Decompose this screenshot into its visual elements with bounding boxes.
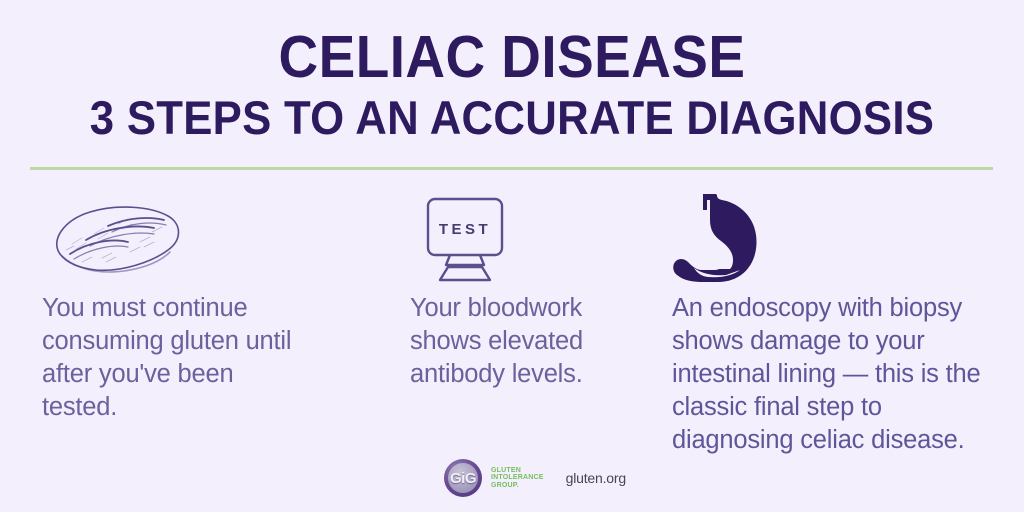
steps-container: You must continue consuming gluten until… <box>0 190 1024 450</box>
step-3-text: An endoscopy with biopsy shows damage to… <box>672 292 1002 457</box>
org-line-3: GROUP. <box>491 482 544 490</box>
step-1-icon-wrap <box>42 190 292 282</box>
gig-logo-text: GiG <box>450 470 476 487</box>
infographic-poster: CELIAC DISEASE 3 STEPS TO AN ACCURATE DI… <box>0 0 1024 512</box>
page-subtitle: 3 STEPS TO AN ACCURATE DIAGNOSIS <box>36 92 988 144</box>
footer-logo[interactable]: GiG GLUTEN INTOLERANCE GROUP. gluten.org <box>444 458 626 498</box>
step-item-1: You must continue consuming gluten until… <box>42 190 292 424</box>
monitor-screen-label: TEST <box>439 221 491 238</box>
website-link[interactable]: gluten.org <box>566 470 626 486</box>
organization-name: GLUTEN INTOLERANCE GROUP. <box>491 467 544 490</box>
gig-logo-icon: GiG <box>444 459 482 497</box>
step-2-icon-wrap: TEST <box>410 190 625 282</box>
header-divider <box>30 167 993 170</box>
page-title: CELIAC DISEASE <box>36 26 988 88</box>
step-item-2: TEST Your bloodwork shows elevated antib… <box>410 190 625 391</box>
header-block: CELIAC DISEASE 3 STEPS TO AN ACCURATE DI… <box>0 26 1024 144</box>
org-line-2: INTOLERANCE <box>491 474 544 482</box>
stomach-icon <box>672 190 782 282</box>
test-monitor-icon: TEST <box>410 194 520 282</box>
step-3-icon-wrap <box>672 190 1002 282</box>
step-1-text: You must continue consuming gluten until… <box>42 292 292 424</box>
bread-loaf-icon <box>42 196 188 282</box>
step-item-3: An endoscopy with biopsy shows damage to… <box>672 190 1002 457</box>
org-line-1: GLUTEN <box>491 467 544 475</box>
step-2-text: Your bloodwork shows elevated antibody l… <box>410 292 625 391</box>
